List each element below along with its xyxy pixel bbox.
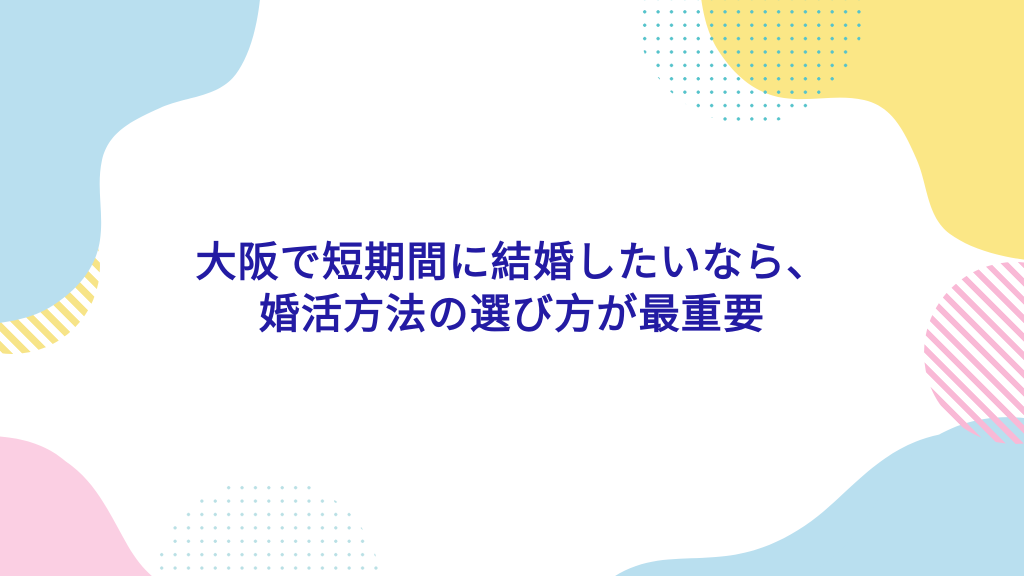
title-card: 大阪で短期間に結婚したいなら、 婚活方法の選び方が最重要 <box>0 0 1024 576</box>
page-title-line-1: 大阪で短期間に結婚したいなら、 <box>196 236 829 288</box>
page-title: 大阪で短期間に結婚したいなら、 婚活方法の選び方が最重要 <box>0 0 1024 576</box>
page-title-line-2: 婚活方法の選び方が最重要 <box>259 288 765 340</box>
